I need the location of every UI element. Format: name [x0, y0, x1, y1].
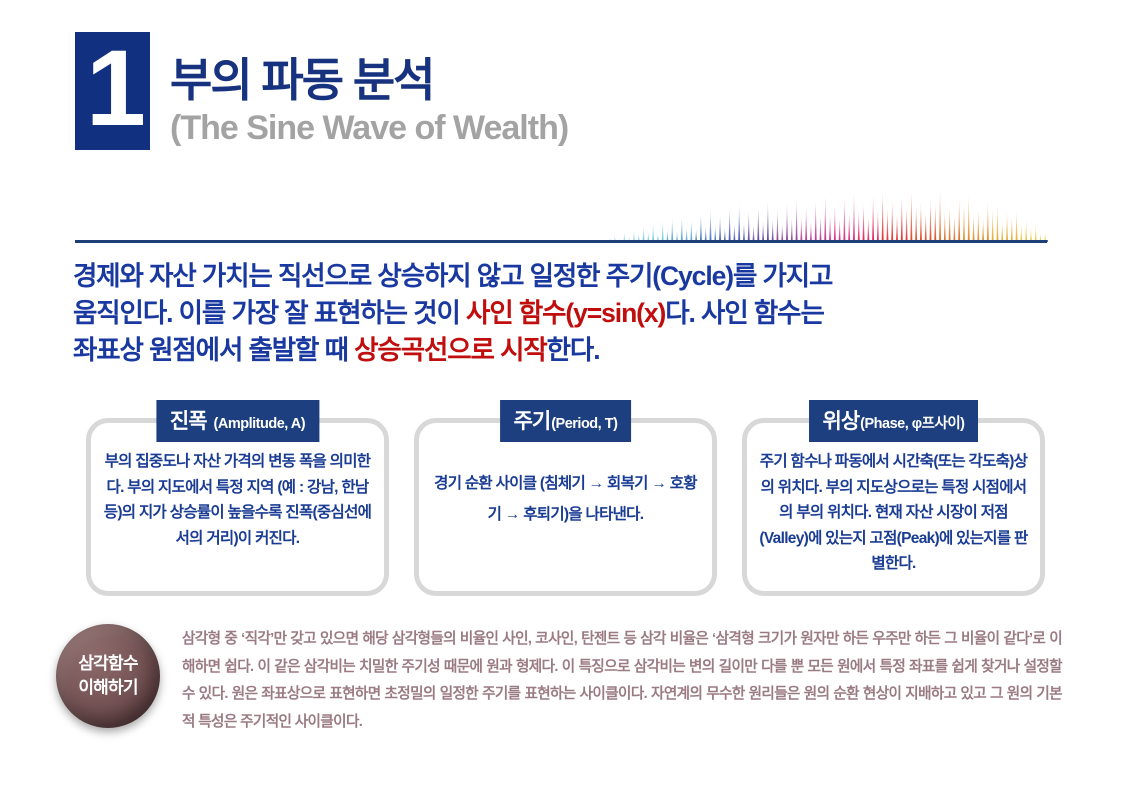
- trig-badge: 삼각함수 이해하기: [56, 624, 160, 728]
- trig-badge-line1: 삼각함수: [78, 652, 137, 676]
- spectrum-bars-decoration: [608, 190, 1048, 242]
- card-phase-body: 주기 함수나 파동에서 시간축(또는 각도축)상의 위치다. 부의 지도상으로는…: [747, 449, 1040, 577]
- lead-highlight-rising: 상승곡선으로 시작: [354, 335, 547, 365]
- lead-highlight-sine: 사인 함수(y=sin(x): [466, 298, 665, 328]
- trig-badge-line2: 이해하기: [78, 676, 137, 700]
- header-divider: [75, 240, 1047, 243]
- footnote-section: 삼각함수 이해하기 삼각형 중 ‘직각’만 갖고 있으면 해당 삼각형들의 비율…: [56, 622, 1076, 736]
- card-amplitude-title-en: (Amplitude, A): [214, 416, 306, 432]
- spectrum-bars-svg: [608, 190, 1048, 242]
- card-phase: 위상 (Phase, φ프사이) 주기 함수나 파동에서 시간축(또는 각도축)…: [742, 418, 1045, 596]
- lead-line1: 경제와 자산 가치는 직선으로 상승하지 않고 일정한 주기(Cycle)를 가…: [73, 261, 832, 291]
- card-amplitude-title-kr: 진폭: [170, 405, 207, 435]
- card-period-title-kr: 주기: [514, 405, 551, 435]
- card-phase-header: 위상 (Phase, φ프사이): [809, 400, 979, 442]
- concept-card-list: 진폭 (Amplitude, A) 부의 집중도나 자산 가격의 변동 폭을 의…: [86, 418, 1046, 596]
- title-group: 부의 파동 분석 (The Sine Wave of Wealth): [170, 32, 568, 148]
- lead-line2-b: 다. 사인 함수는: [665, 298, 823, 328]
- page-subtitle: (The Sine Wave of Wealth): [170, 108, 568, 148]
- card-amplitude: 진폭 (Amplitude, A) 부의 집중도나 자산 가격의 변동 폭을 의…: [86, 418, 389, 596]
- card-period-body: 경기 순환 사이클 (침체기 → 회복기 → 호황기 → 후퇴기)을 나타낸다.: [419, 468, 712, 530]
- card-period: 주기 (Period, T) 경기 순환 사이클 (침체기 → 회복기 → 호황…: [414, 418, 717, 596]
- page-header: 1 부의 파동 분석 (The Sine Wave of Wealth): [75, 32, 568, 150]
- card-phase-title-en: (Phase, φ프사이): [860, 412, 964, 433]
- card-period-header: 주기 (Period, T): [500, 400, 632, 442]
- lead-line2-a: 움직인다. 이를 가장 잘 표현하는 것이: [73, 298, 466, 328]
- lead-paragraph: 경제와 자산 가치는 직선으로 상승하지 않고 일정한 주기(Cycle)를 가…: [73, 258, 1073, 369]
- infographic-page: 1 부의 파동 분석 (The Sine Wave of Wealth) 경제와…: [0, 0, 1122, 793]
- card-amplitude-header: 진폭 (Amplitude, A): [156, 400, 319, 442]
- section-number-badge: 1: [75, 32, 150, 150]
- lead-line3-a: 좌표상 원점에서 출발할 때: [73, 335, 354, 365]
- card-amplitude-body: 부의 집중도나 자산 가격의 변동 폭을 의미한다. 부의 지도에서 특정 지역…: [91, 449, 384, 551]
- card-period-title-en: (Period, T): [551, 416, 617, 432]
- page-title: 부의 파동 분석: [170, 54, 568, 106]
- card-phase-title-kr: 위상: [823, 405, 860, 435]
- footnote-text: 삼각형 중 ‘직각’만 갖고 있으면 해당 삼각형들의 비율인 사인, 코사인,…: [182, 622, 1062, 736]
- lead-line3-b: 한다.: [547, 335, 600, 365]
